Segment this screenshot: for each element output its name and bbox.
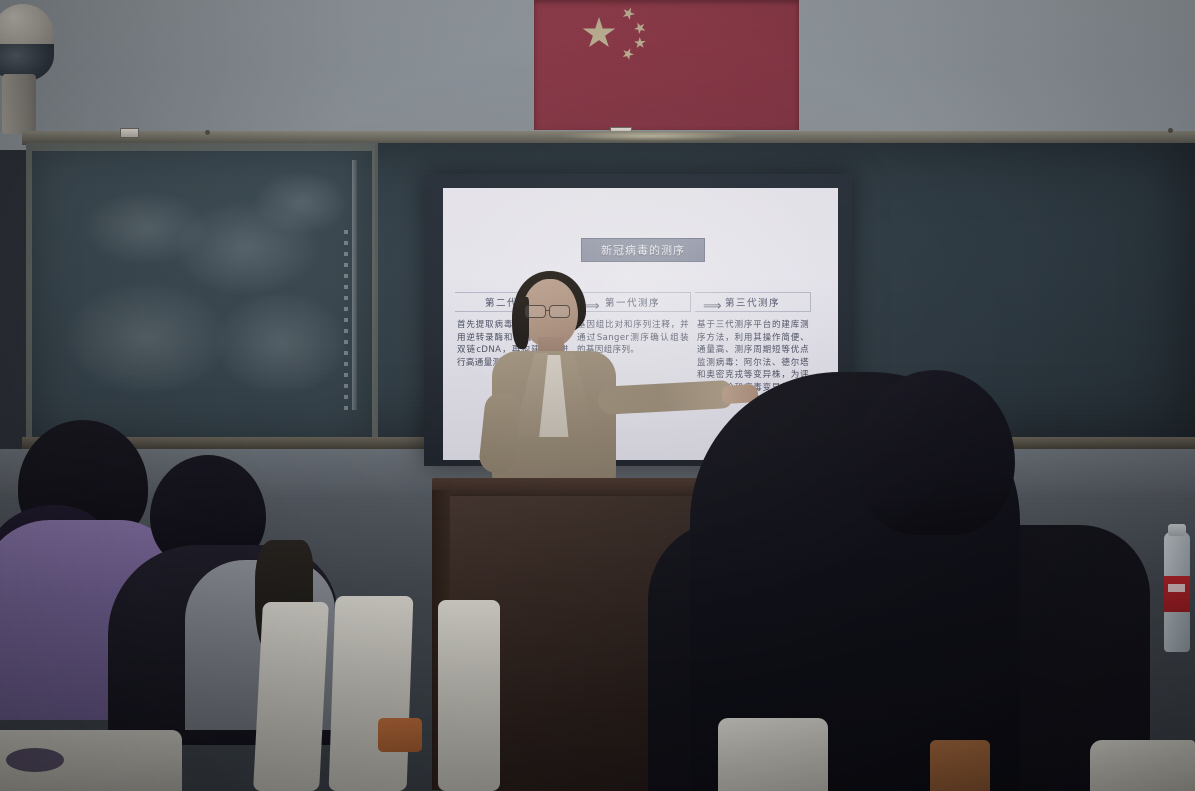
slide-arrow-2-icon: ⟹ [703,300,722,313]
water-bottle-label-text [1168,584,1185,592]
chair-seat-orange-2[interactable] [930,740,990,791]
blackboard-slide-rail [352,160,357,410]
chair-seat-orange-1[interactable] [378,718,422,752]
chair-back-4[interactable] [718,718,828,791]
eyeglasses-right-lens-icon [549,305,570,318]
flag-star-small-4-icon [621,47,634,60]
chair-back-3[interactable] [438,600,500,791]
slide-title: 新冠病毒的测序 [581,238,705,262]
wall-switch-plate[interactable] [120,128,139,138]
dome-security-camera [0,0,52,120]
speaker-at-podium [470,275,685,490]
flag-star-large-icon [582,17,616,50]
china-national-flag [534,0,799,130]
chair-back-5[interactable] [1090,740,1195,791]
flag-star-small-2-icon [632,20,649,37]
light-reflection [560,131,740,141]
eyeglasses-left-lens-icon [525,305,546,318]
desk-handle-cutout [6,748,64,772]
classroom-photo-scene: 新冠病毒的测序 第二代测序 首先提取病毒核酸，然后利用逆转录酶和随机引物合成双链… [0,0,1195,791]
blackboard-rail-perforations [344,230,348,410]
camera-mount-arm [2,74,36,134]
blackboard-panel-frame [26,143,378,443]
flag-star-small-3-icon [632,35,647,50]
chair-back-1[interactable] [253,602,329,791]
flag-star-small-1-icon [620,5,637,22]
water-bottle-cap [1168,524,1186,536]
mount-screw [1168,128,1173,133]
eyeglasses-bridge-icon [546,310,550,311]
water-bottle-label [1164,576,1190,612]
mount-screw [205,130,210,135]
chair-back-2[interactable] [329,596,414,791]
